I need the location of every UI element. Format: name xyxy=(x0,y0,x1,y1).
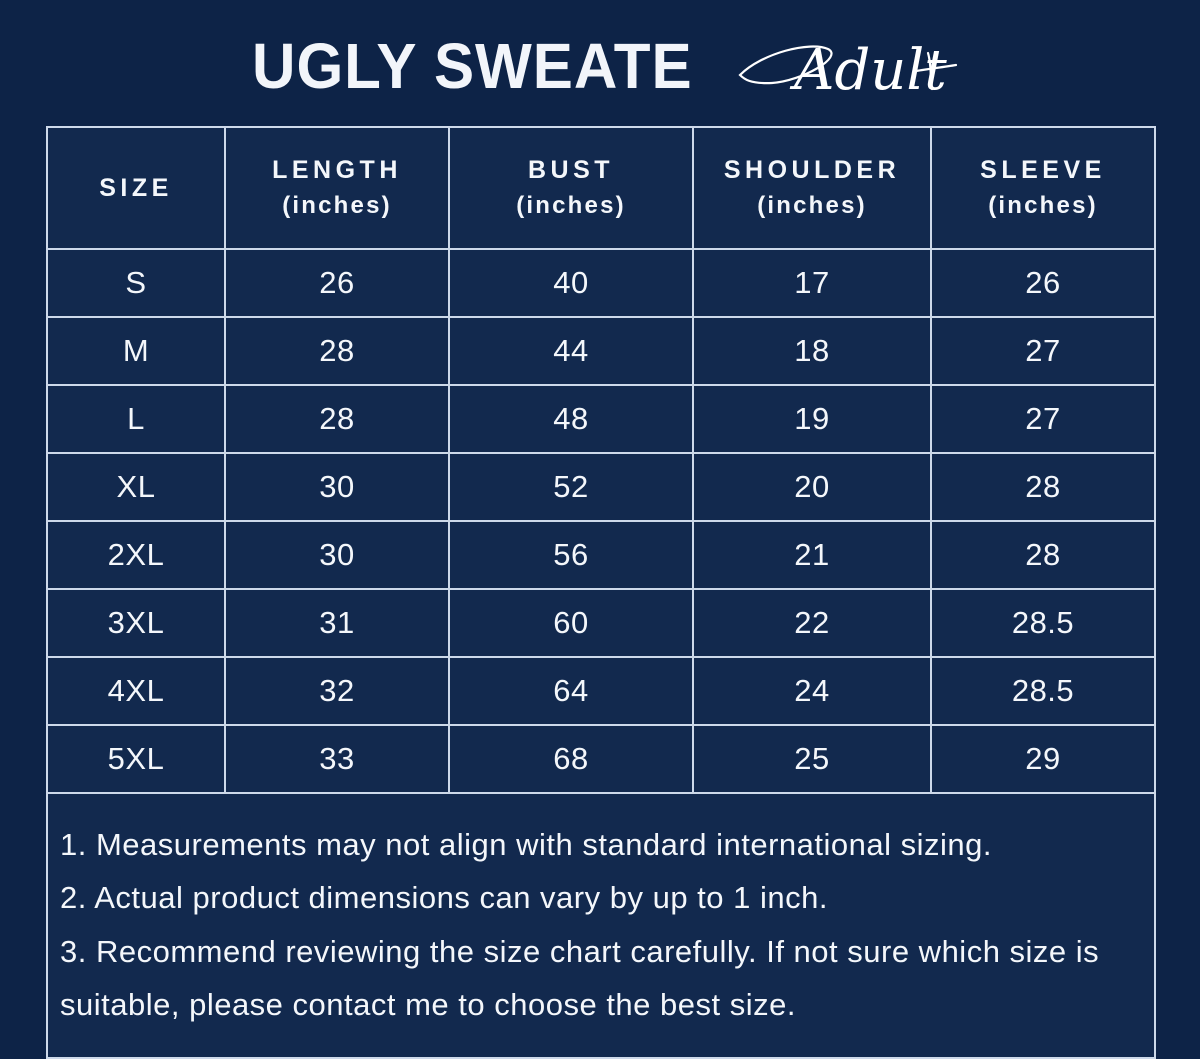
column-header-length-unit: (inches) xyxy=(228,189,446,224)
cell-size: M xyxy=(47,317,225,385)
table-row: M 28 44 18 27 xyxy=(47,317,1155,385)
column-header-sleeve-unit: (inches) xyxy=(934,189,1152,224)
table-row: 2XL 30 56 21 28 xyxy=(47,521,1155,589)
note-item-2: 2. Actual product dimensions can vary by… xyxy=(60,871,1130,924)
cell-shoulder: 21 xyxy=(693,521,931,589)
column-header-size: SIZE xyxy=(47,127,225,249)
column-header-shoulder-label: SHOULDER xyxy=(724,156,900,184)
table-row: XL 30 52 20 28 xyxy=(47,453,1155,521)
size-chart-page: UGLY SWEATE Adult SIZE LENGTH (inches) xyxy=(0,0,1200,1005)
cell-shoulder: 20 xyxy=(693,453,931,521)
cell-length: 30 xyxy=(225,521,449,589)
cell-sleeve: 28 xyxy=(931,453,1155,521)
cell-size: L xyxy=(47,385,225,453)
cell-shoulder: 25 xyxy=(693,725,931,793)
table-body: S 26 40 17 26 M 28 44 18 27 L 28 48 19 2… xyxy=(47,249,1155,1058)
cell-bust: 56 xyxy=(449,521,693,589)
column-header-bust-label: BUST xyxy=(528,156,614,184)
note-item-3: 3. Recommend reviewing the size chart ca… xyxy=(60,925,1130,1032)
cell-shoulder: 18 xyxy=(693,317,931,385)
cell-sleeve: 28.5 xyxy=(931,657,1155,725)
column-header-shoulder-unit: (inches) xyxy=(696,189,928,224)
cell-sleeve: 26 xyxy=(931,249,1155,317)
column-header-bust-unit: (inches) xyxy=(452,189,690,224)
table-row: 3XL 31 60 22 28.5 xyxy=(47,589,1155,657)
cell-bust: 60 xyxy=(449,589,693,657)
cell-size: 3XL xyxy=(47,589,225,657)
cell-sleeve: 28 xyxy=(931,521,1155,589)
cell-length: 26 xyxy=(225,249,449,317)
cell-shoulder: 19 xyxy=(693,385,931,453)
cell-length: 28 xyxy=(225,385,449,453)
column-header-sleeve-label: SLEEVE xyxy=(980,156,1106,184)
column-header-sleeve: SLEEVE (inches) xyxy=(931,127,1155,249)
column-header-length-label: LENGTH xyxy=(272,156,402,184)
cell-length: 31 xyxy=(225,589,449,657)
cell-length: 30 xyxy=(225,453,449,521)
script-adult-icon: Adult xyxy=(732,23,962,109)
column-header-length: LENGTH (inches) xyxy=(225,127,449,249)
cell-size: 5XL xyxy=(47,725,225,793)
cell-shoulder: 17 xyxy=(693,249,931,317)
cell-bust: 44 xyxy=(449,317,693,385)
cell-bust: 48 xyxy=(449,385,693,453)
table-row: 4XL 32 64 24 28.5 xyxy=(47,657,1155,725)
size-chart-table: SIZE LENGTH (inches) BUST (inches) SHOUL… xyxy=(46,126,1156,1059)
cell-size: XL xyxy=(47,453,225,521)
cell-size: S xyxy=(47,249,225,317)
cell-sleeve: 28.5 xyxy=(931,589,1155,657)
table-row: L 28 48 19 27 xyxy=(47,385,1155,453)
cell-bust: 68 xyxy=(449,725,693,793)
column-header-bust: BUST (inches) xyxy=(449,127,693,249)
notes-row: 1. Measurements may not align with stand… xyxy=(47,793,1155,1058)
cell-shoulder: 24 xyxy=(693,657,931,725)
cell-shoulder: 22 xyxy=(693,589,931,657)
cell-bust: 40 xyxy=(449,249,693,317)
table-header: SIZE LENGTH (inches) BUST (inches) SHOUL… xyxy=(47,127,1155,249)
title-main-text: UGLY SWEATE xyxy=(252,34,692,98)
column-header-shoulder: SHOULDER (inches) xyxy=(693,127,931,249)
cell-length: 32 xyxy=(225,657,449,725)
cell-sleeve: 27 xyxy=(931,317,1155,385)
cell-bust: 52 xyxy=(449,453,693,521)
chart-title: UGLY SWEATE Adult xyxy=(0,18,1200,114)
cell-length: 33 xyxy=(225,725,449,793)
column-header-size-label: SIZE xyxy=(99,174,173,202)
notes-section: 1. Measurements may not align with stand… xyxy=(47,793,1155,1058)
cell-length: 28 xyxy=(225,317,449,385)
cell-size: 2XL xyxy=(47,521,225,589)
cell-sleeve: 29 xyxy=(931,725,1155,793)
cell-sleeve: 27 xyxy=(931,385,1155,453)
table-row: S 26 40 17 26 xyxy=(47,249,1155,317)
note-item-1: 1. Measurements may not align with stand… xyxy=(60,818,1130,871)
title-script-adult: Adult xyxy=(732,23,962,109)
cell-size: 4XL xyxy=(47,657,225,725)
table-row: 5XL 33 68 25 29 xyxy=(47,725,1155,793)
cell-bust: 64 xyxy=(449,657,693,725)
header-row: SIZE LENGTH (inches) BUST (inches) SHOUL… xyxy=(47,127,1155,249)
